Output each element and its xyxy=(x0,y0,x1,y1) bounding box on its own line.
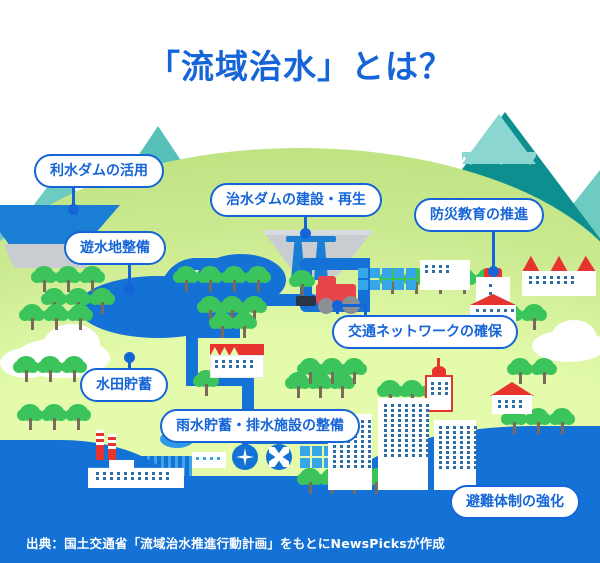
tractor-cab xyxy=(318,276,336,288)
tree-icon xyxy=(92,288,112,314)
tree-icon xyxy=(292,270,312,296)
tree-icon xyxy=(70,304,90,330)
solar-panel-icon xyxy=(358,268,416,290)
city-skyline-icon xyxy=(378,398,428,490)
tree-icon xyxy=(510,358,530,384)
cloud-icon xyxy=(552,320,596,352)
tree-icon xyxy=(300,468,320,494)
tree-icon xyxy=(212,312,232,338)
label-suiden-chochiku[interactable]: 水田貯蓄 xyxy=(80,368,168,402)
page-title: 「流域治水」とは？ xyxy=(0,40,600,88)
source-footer: 出典：国土交通省「流域治水推進行動計画」をもとにNewsPicksが作成 xyxy=(0,520,600,563)
office-building-icon xyxy=(420,260,470,290)
tree-icon xyxy=(234,312,254,338)
tree-icon xyxy=(534,358,554,384)
tree-icon xyxy=(46,304,66,330)
leader-dot xyxy=(124,284,135,295)
tree-icon xyxy=(20,404,40,430)
label-yusuichi[interactable]: 遊水地整備 xyxy=(64,231,166,265)
dam-crest xyxy=(264,230,372,235)
label-risui-dam[interactable]: 利水ダムの活用 xyxy=(34,154,164,188)
pump-station-icon xyxy=(232,444,258,470)
road-tunnel-icon xyxy=(296,296,316,306)
label-kotsu-network[interactable]: 交通ネットワークの確保 xyxy=(332,315,518,349)
leader-dot xyxy=(488,266,499,277)
label-bousai-kyoiku[interactable]: 防災教育の推進 xyxy=(414,198,544,232)
source-text: 出典：国土交通省「流域治水推進行動計画」をもとにNewsPicksが作成 xyxy=(26,533,445,552)
tree-icon xyxy=(344,358,364,384)
school-icon xyxy=(210,344,264,378)
leader-dot xyxy=(68,204,79,215)
tree-icon xyxy=(200,266,220,292)
city-skyline-icon xyxy=(434,420,476,490)
label-chisui-dam[interactable]: 治水ダムの建設・再生 xyxy=(210,183,382,217)
infographic-root: 「流域治水」とは？ xyxy=(0,0,600,563)
tree-icon xyxy=(40,356,60,382)
tree-icon xyxy=(248,266,268,292)
dam-gate xyxy=(286,236,336,242)
pump-station-icon xyxy=(266,444,292,470)
tree-icon xyxy=(224,266,244,292)
leader-dot xyxy=(332,300,343,311)
tree-icon xyxy=(22,304,42,330)
tree-icon xyxy=(16,356,36,382)
house-icon xyxy=(522,254,596,296)
house-icon xyxy=(490,382,534,414)
tree-icon xyxy=(176,266,196,292)
pump-house-icon xyxy=(192,452,226,468)
leader-dot xyxy=(124,352,135,363)
leader-dot xyxy=(300,228,311,239)
tree-icon xyxy=(524,304,544,330)
tree-icon xyxy=(44,404,64,430)
label-usui-chochiku[interactable]: 雨水貯蓄・排水施設の整備 xyxy=(160,409,360,443)
tree-icon xyxy=(68,404,88,430)
tree-icon xyxy=(552,408,572,434)
tree-icon xyxy=(300,358,320,384)
tree-icon xyxy=(322,358,342,384)
label-hinan-taisei[interactable]: 避難体制の強化 xyxy=(450,485,580,519)
